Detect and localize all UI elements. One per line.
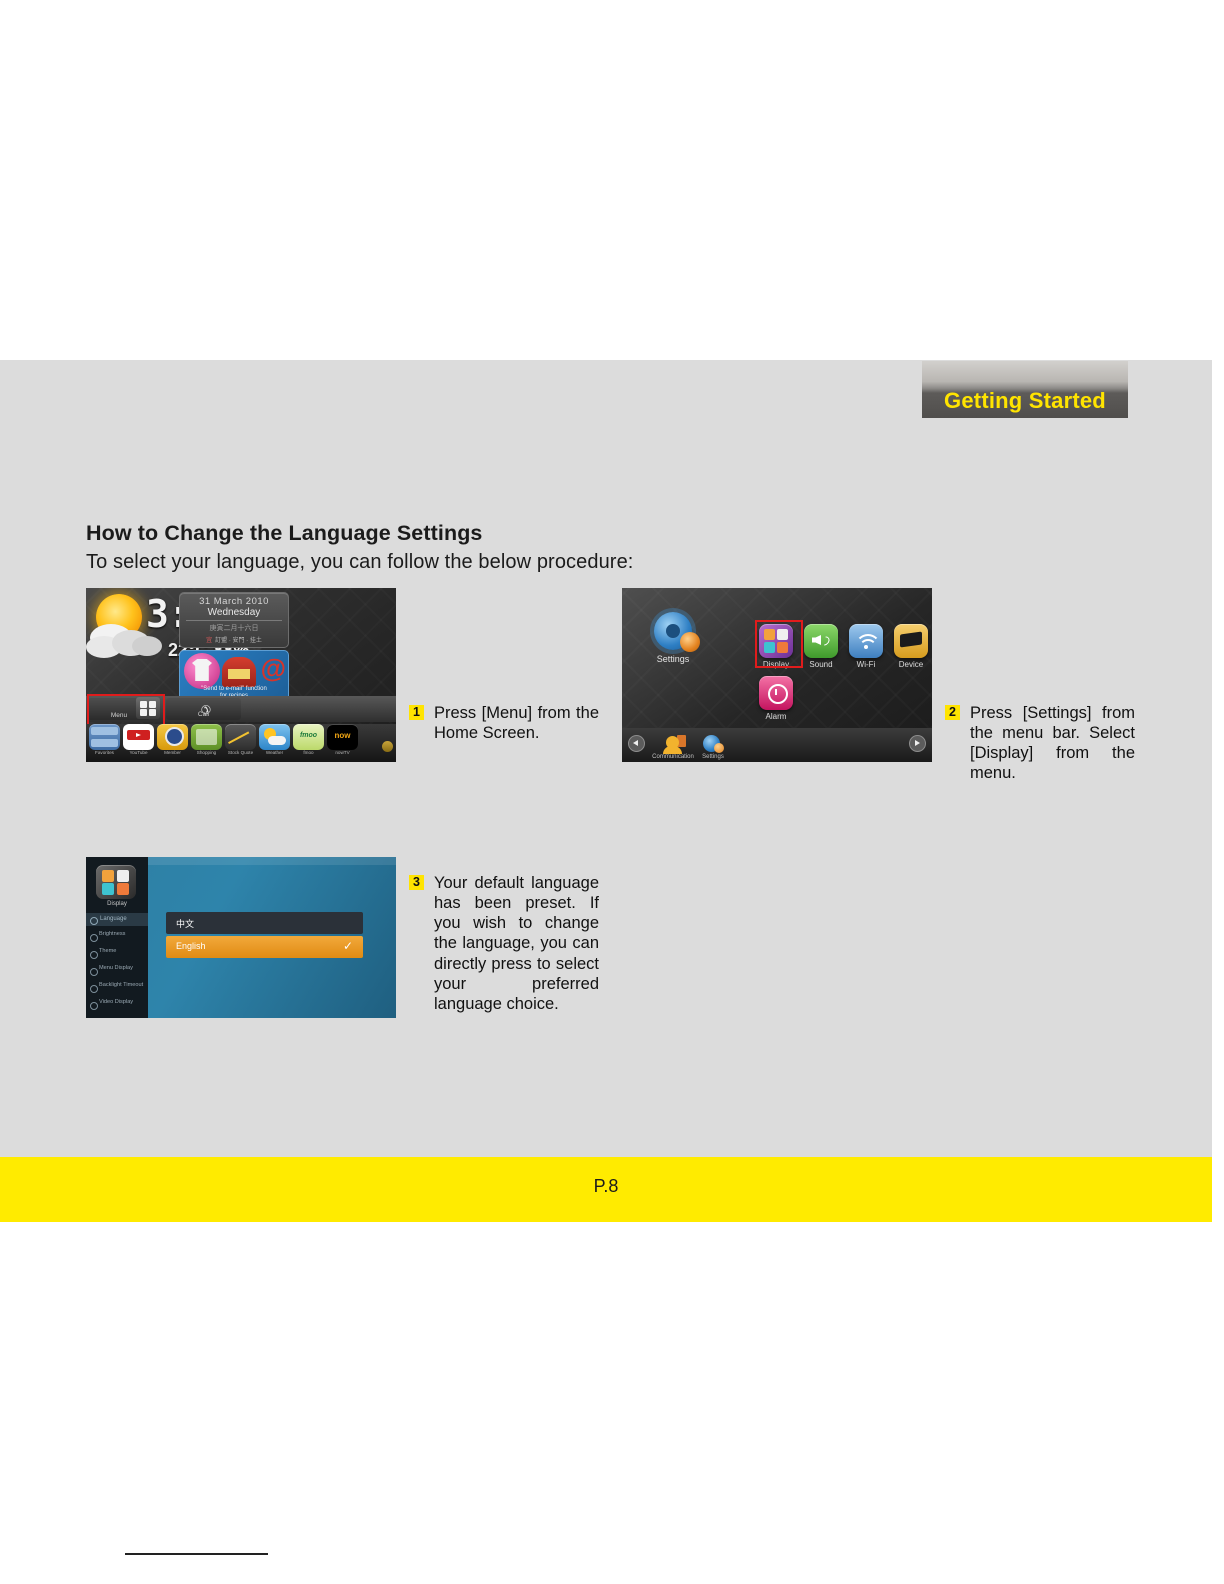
app-label: Stock Quote xyxy=(225,751,256,756)
app-label: nowTV xyxy=(327,751,358,756)
sidebar-item-label: Brightness xyxy=(99,931,146,937)
lunar-good-items: 訂盟 · 安門 · 挂土 xyxy=(215,635,262,644)
sidebar-item-menu-display[interactable]: Menu Display xyxy=(86,963,148,980)
dock-item-label: Settings xyxy=(688,754,738,760)
app-shortcut-now[interactable]: now nowTV xyxy=(327,724,358,756)
sidebar-item-label: Menu Display xyxy=(99,965,146,971)
favorites-icon xyxy=(89,724,120,750)
at-sign-icon: @ xyxy=(261,655,286,681)
settings-icon xyxy=(699,734,727,754)
member-badge-icon xyxy=(157,724,188,750)
sidebar-item-brightness[interactable]: Brightness xyxy=(86,929,148,946)
previous-page-icon[interactable] xyxy=(628,735,645,752)
step-number-badge: 2 xyxy=(945,705,960,720)
highlight-box-display xyxy=(755,620,803,668)
sidebar-item-theme[interactable]: Theme xyxy=(86,946,148,963)
alarm-clock-icon xyxy=(768,684,788,704)
sidebar-item-label: Backlight Timeout xyxy=(99,982,146,988)
sidebar-item-backlight-timeout[interactable]: Backlight Timeout xyxy=(86,980,148,997)
next-page-icon[interactable] xyxy=(909,735,926,752)
call-button-label: Call xyxy=(166,711,241,718)
radio-icon xyxy=(90,968,98,976)
tile-device[interactable] xyxy=(894,624,928,658)
manual-page: Getting Started How to Change the Langua… xyxy=(0,0,1224,1584)
date-full: 31 March 2010 xyxy=(180,596,288,607)
lunar-good-label: 宜 xyxy=(206,635,212,644)
language-option-english[interactable]: English ✓ xyxy=(166,936,363,958)
sidebar-item-label: Video Display xyxy=(99,999,146,1005)
app-shortcut-stock[interactable]: Stock Quote xyxy=(225,724,256,756)
communication-icon xyxy=(659,734,687,754)
device-screen-icon xyxy=(900,631,922,647)
date-lunar-detail: 宜 訂盟 · 安門 · 挂土 xyxy=(180,635,288,644)
send-to-email-widget[interactable]: @ "Send to e-mail" function for recipes xyxy=(179,650,289,702)
app-label: Weather xyxy=(259,751,290,756)
page-spine-mark xyxy=(125,1553,268,1555)
wifi-arc-icon xyxy=(859,639,877,657)
page-title: How to Change the Language Settings xyxy=(86,521,482,546)
weather-icon xyxy=(259,724,290,750)
page-subtitle: To select your language, you can follow … xyxy=(86,551,633,574)
sidebar-item-label: Theme xyxy=(99,948,146,954)
tile-sound[interactable] xyxy=(804,624,838,658)
app-label: Shopping xyxy=(191,751,222,756)
tile-device-label: Device xyxy=(887,660,932,669)
date-weekday: Wednesday xyxy=(180,607,288,618)
display-settings-sidebar: Display Language Brightness Theme Menu D… xyxy=(86,857,148,1018)
app-shortcut-fmoo[interactable]: fmoo fmoo xyxy=(293,724,324,756)
app-shortcut-row: Favorites YouTube Member Shopping Stock … xyxy=(86,724,396,762)
page-number: P.8 xyxy=(0,1176,1212,1197)
step-caption-text: Press [Menu] from the Home Screen. xyxy=(434,703,599,743)
step-caption-text: Press [Settings] from the menu bar. Sele… xyxy=(970,703,1135,784)
step-number-badge: 3 xyxy=(409,875,424,890)
step-caption-3: 3 Your default language has been preset.… xyxy=(409,873,599,1014)
radio-icon xyxy=(90,934,98,942)
youtube-icon xyxy=(123,724,154,750)
app-shortcut-youtube[interactable]: YouTube xyxy=(123,724,154,756)
section-tab-getting-started: Getting Started xyxy=(922,361,1128,418)
screenshot-display-settings: Display Language Brightness Theme Menu D… xyxy=(86,857,396,1018)
radio-icon xyxy=(90,951,98,959)
app-label: Favorites xyxy=(89,751,120,756)
tile-sound-label: Sound xyxy=(797,660,845,669)
step-caption-2: 2 Press [Settings] from the menu bar. Se… xyxy=(945,703,1135,784)
tile-alarm-label: Alarm xyxy=(752,712,800,721)
app-label: fmoo xyxy=(293,751,324,756)
display-icon xyxy=(96,865,136,899)
step-caption-text: Your default language has been preset. I… xyxy=(434,873,599,1014)
dock-item-settings[interactable]: Settings xyxy=(688,734,738,760)
app-label: YouTube xyxy=(123,751,154,756)
sidebar-item-list: Brightness Theme Menu Display Backlight … xyxy=(86,929,148,1014)
cloud-icon xyxy=(132,636,162,656)
app-shortcut-weather[interactable]: Weather xyxy=(259,724,290,756)
language-option-chinese[interactable]: 中文 xyxy=(166,912,363,934)
mailbox-icon xyxy=(222,657,256,687)
page-footer: P.8 xyxy=(0,1157,1212,1222)
settings-gear-small-icon xyxy=(680,632,700,652)
screenshot-settings-menu: Settings Display Sound Wi-Fi Device Alar… xyxy=(622,588,932,762)
tile-wifi-label: Wi-Fi xyxy=(842,660,890,669)
app-shortcut-shopping[interactable]: Shopping xyxy=(191,724,222,756)
radio-icon xyxy=(90,985,98,993)
settings-title-label: Settings xyxy=(638,654,708,664)
top-bar xyxy=(148,857,396,865)
date-widget: 31 March 2010 Wednesday 庚寅二月十六日 宜 訂盟 · 安… xyxy=(179,592,289,648)
app-shortcut-member[interactable]: Member xyxy=(157,724,188,756)
radio-icon xyxy=(90,1002,98,1010)
call-button[interactable]: ✆ Call xyxy=(166,698,241,720)
section-tab-label: Getting Started xyxy=(922,388,1128,414)
date-lunar: 庚寅二月十六日 xyxy=(180,623,288,633)
radio-icon xyxy=(90,917,98,925)
check-icon: ✓ xyxy=(343,939,353,953)
highlight-box-menu xyxy=(87,694,165,728)
wifi-dot-icon xyxy=(864,645,868,649)
sidebar-item-video-display[interactable]: Video Display xyxy=(86,997,148,1014)
tile-wifi[interactable] xyxy=(849,624,883,658)
now-icon: now xyxy=(327,724,358,750)
stock-chart-icon xyxy=(225,724,256,750)
divider xyxy=(186,620,282,621)
shopping-icon xyxy=(191,724,222,750)
sidebar-item-label: Language xyxy=(100,916,127,922)
sidebar-item-language[interactable]: Language xyxy=(86,913,148,926)
screenshot-home-screen: 3:24PM 22°C 88% 31 March 2010 Wednesday … xyxy=(86,588,396,762)
app-shortcut-favorites[interactable]: Favorites xyxy=(89,724,120,756)
language-option-label: English xyxy=(176,941,206,951)
fmoo-icon: fmoo xyxy=(293,724,324,750)
tile-alarm[interactable] xyxy=(759,676,793,710)
step-caption-1: 1 Press [Menu] from the Home Screen. xyxy=(409,703,599,743)
app-label: Member xyxy=(157,751,188,756)
step-number-badge: 1 xyxy=(409,705,424,720)
more-apps-icon[interactable] xyxy=(382,741,393,752)
language-option-label: 中文 xyxy=(176,917,194,930)
sidebar-icon-label: Display xyxy=(86,901,148,907)
